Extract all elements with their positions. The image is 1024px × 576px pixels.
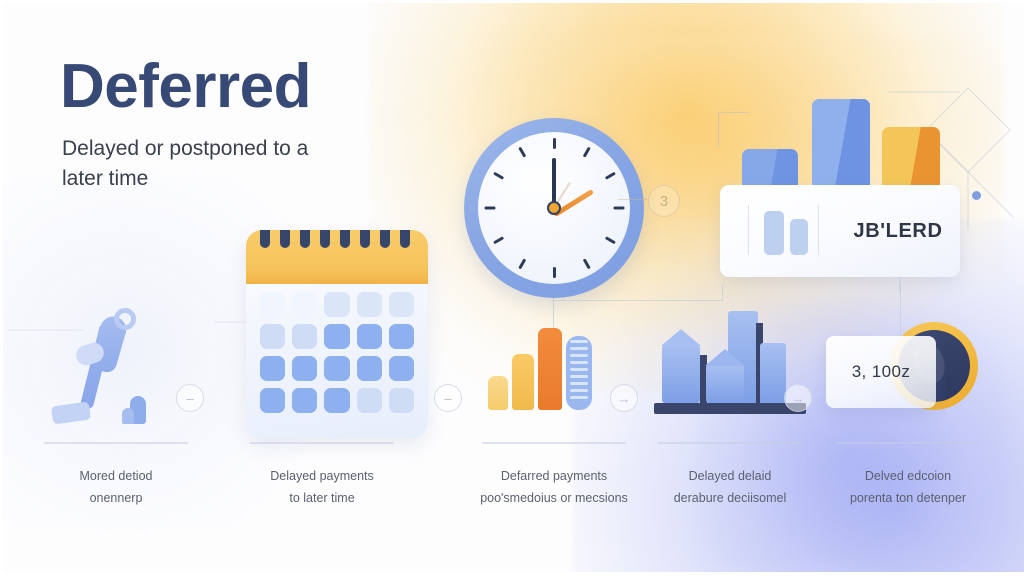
item-caption: Delayed delaid derabure deciisomel [640, 466, 820, 510]
item-money: 3, 100z Delved edcoion porenta ton deten… [818, 300, 998, 530]
calendar-cell[interactable] [389, 356, 414, 381]
caption-line-2: porenta ton detenper [818, 488, 998, 510]
tool-icon [26, 300, 206, 440]
building-left [662, 345, 700, 403]
calendar-cell[interactable] [260, 292, 285, 317]
clock-tick [493, 172, 504, 180]
item-caption: Delved edcoion porenta ton detenper [818, 466, 998, 510]
cityscape-icon [640, 300, 820, 440]
item-caption: Delayed payments to later time [232, 466, 412, 510]
connector-line-vertical-2 [722, 285, 723, 301]
item-baseline [482, 442, 626, 444]
tool-handle-part [114, 308, 136, 330]
calendar-ring [320, 230, 330, 248]
calendar-cell[interactable] [324, 292, 349, 317]
item-calendar: Delayed payments to later time [232, 300, 412, 530]
item-bars: Defarred payments poo'smedoius or mecsio… [464, 300, 644, 530]
item-baseline [44, 442, 188, 444]
calendar-grid [260, 292, 414, 413]
calendar-cell[interactable] [389, 388, 414, 413]
calendar-ring [380, 230, 390, 248]
dashboard-label: JB'LERD [838, 185, 958, 277]
item-baseline [250, 442, 394, 444]
clock-tick [518, 258, 526, 269]
bar-chart-icon [464, 300, 644, 440]
caption-line-2: poo'smedoius or mecsions [464, 488, 644, 510]
infographic-canvas: Deferred Delayed or postponed to a later… [0, 0, 1024, 576]
item-tool: Mored detiod onennerp [26, 300, 206, 530]
headline-block: Deferred Delayed or postponed to a later… [60, 55, 460, 194]
building-right [760, 343, 786, 403]
calendar-ring [280, 230, 290, 248]
connector-arrow-2[interactable]: → [784, 384, 812, 412]
calendar-cell[interactable] [357, 292, 382, 317]
clock-tick [553, 267, 556, 278]
caption-line-1: Delayed payments [270, 469, 374, 483]
dashboard-card: JB'LERD [720, 185, 960, 277]
calendar-cell[interactable] [260, 356, 285, 381]
tool-lump-2 [122, 408, 134, 424]
clock-face [478, 132, 630, 284]
caption-line-2: to later time [232, 488, 412, 510]
connector-arrow-1[interactable]: → [610, 384, 638, 412]
tool-head-part [51, 401, 91, 424]
caption-line-1: Delved edcoion [865, 469, 951, 483]
calendar-body [246, 230, 428, 438]
calendar-cell[interactable] [357, 324, 382, 349]
card-mini-bar-2 [790, 219, 808, 255]
clock-tick [582, 258, 590, 269]
node-dot [972, 191, 981, 200]
frame-top-edge [0, 0, 1024, 3]
step-badge-3: 3 [648, 185, 680, 217]
dashboard-bar-2 [812, 99, 870, 191]
calendar-ring [360, 230, 370, 248]
calendar-cell[interactable] [357, 388, 382, 413]
caption-line-2: derabure deciisomel [640, 488, 820, 510]
clock-tick [613, 207, 624, 210]
building-mid [706, 365, 744, 403]
frame-bottom-edge [0, 572, 1024, 576]
calendar-cell[interactable] [389, 324, 414, 349]
item-baseline [836, 442, 980, 444]
calendar-cell[interactable] [357, 356, 382, 381]
item-baseline [658, 442, 802, 444]
calendar-cell[interactable] [292, 388, 317, 413]
clock-tick [493, 236, 504, 244]
mini-bar-striped [566, 336, 592, 410]
mini-bar-2 [512, 354, 534, 410]
calendar-cell[interactable] [324, 356, 349, 381]
coin-card-icon: 3, 100z [818, 300, 998, 440]
clock-tick [604, 172, 615, 180]
item-caption: Mored detiod onennerp [26, 466, 206, 510]
badge-leader-line [618, 199, 648, 200]
clock-tick [604, 236, 615, 244]
caption-line-1: Defarred payments [501, 469, 607, 483]
clock-tick [553, 138, 556, 149]
caption-line-2: onennerp [26, 488, 206, 510]
clock-tick [518, 147, 526, 158]
calendar-cell[interactable] [324, 388, 349, 413]
connector-minus-1[interactable]: – [176, 384, 204, 412]
clock-center-pin [547, 201, 561, 215]
item-row: Mored detiod onennerp – [0, 300, 1024, 530]
calendar-ring [340, 230, 350, 248]
card-mini-bar-1 [764, 211, 784, 255]
clock-tick [484, 207, 495, 210]
calendar-cell[interactable] [292, 324, 317, 349]
calendar-cell[interactable] [292, 292, 317, 317]
card-divider-1 [748, 205, 749, 255]
caption-line-1: Mored detiod [80, 469, 153, 483]
calendar-cell[interactable] [260, 388, 285, 413]
item-caption: Defarred payments poo'smedoius or mecsio… [464, 466, 644, 510]
clock-tick [582, 147, 590, 158]
dashboard-bar-3 [882, 127, 940, 191]
mini-bar-1 [488, 376, 508, 410]
dashboard-illustration: JB'LERD [714, 105, 968, 285]
item-city: Delayed delaid derabure deciisomel [640, 300, 820, 530]
calendar-cell[interactable] [324, 324, 349, 349]
page-subtitle: Delayed or postponed to a later time [62, 134, 352, 194]
clock-icon [464, 118, 644, 298]
city-base-bar [654, 403, 806, 414]
calendar-cell[interactable] [292, 356, 317, 381]
calendar-cell[interactable] [260, 324, 285, 349]
calendar-ring [300, 230, 310, 248]
caption-line-1: Delayed delaid [689, 469, 772, 483]
connector-minus-2[interactable]: – [434, 384, 462, 412]
calendar-ring [400, 230, 410, 248]
mini-bar-3 [538, 328, 562, 410]
calendar-cell[interactable] [389, 292, 414, 317]
card-divider-2 [818, 205, 819, 255]
calendar-icon [232, 300, 412, 440]
calendar-ring [260, 230, 270, 248]
page-title: Deferred [60, 55, 460, 118]
money-card: 3, 100z [826, 336, 936, 408]
